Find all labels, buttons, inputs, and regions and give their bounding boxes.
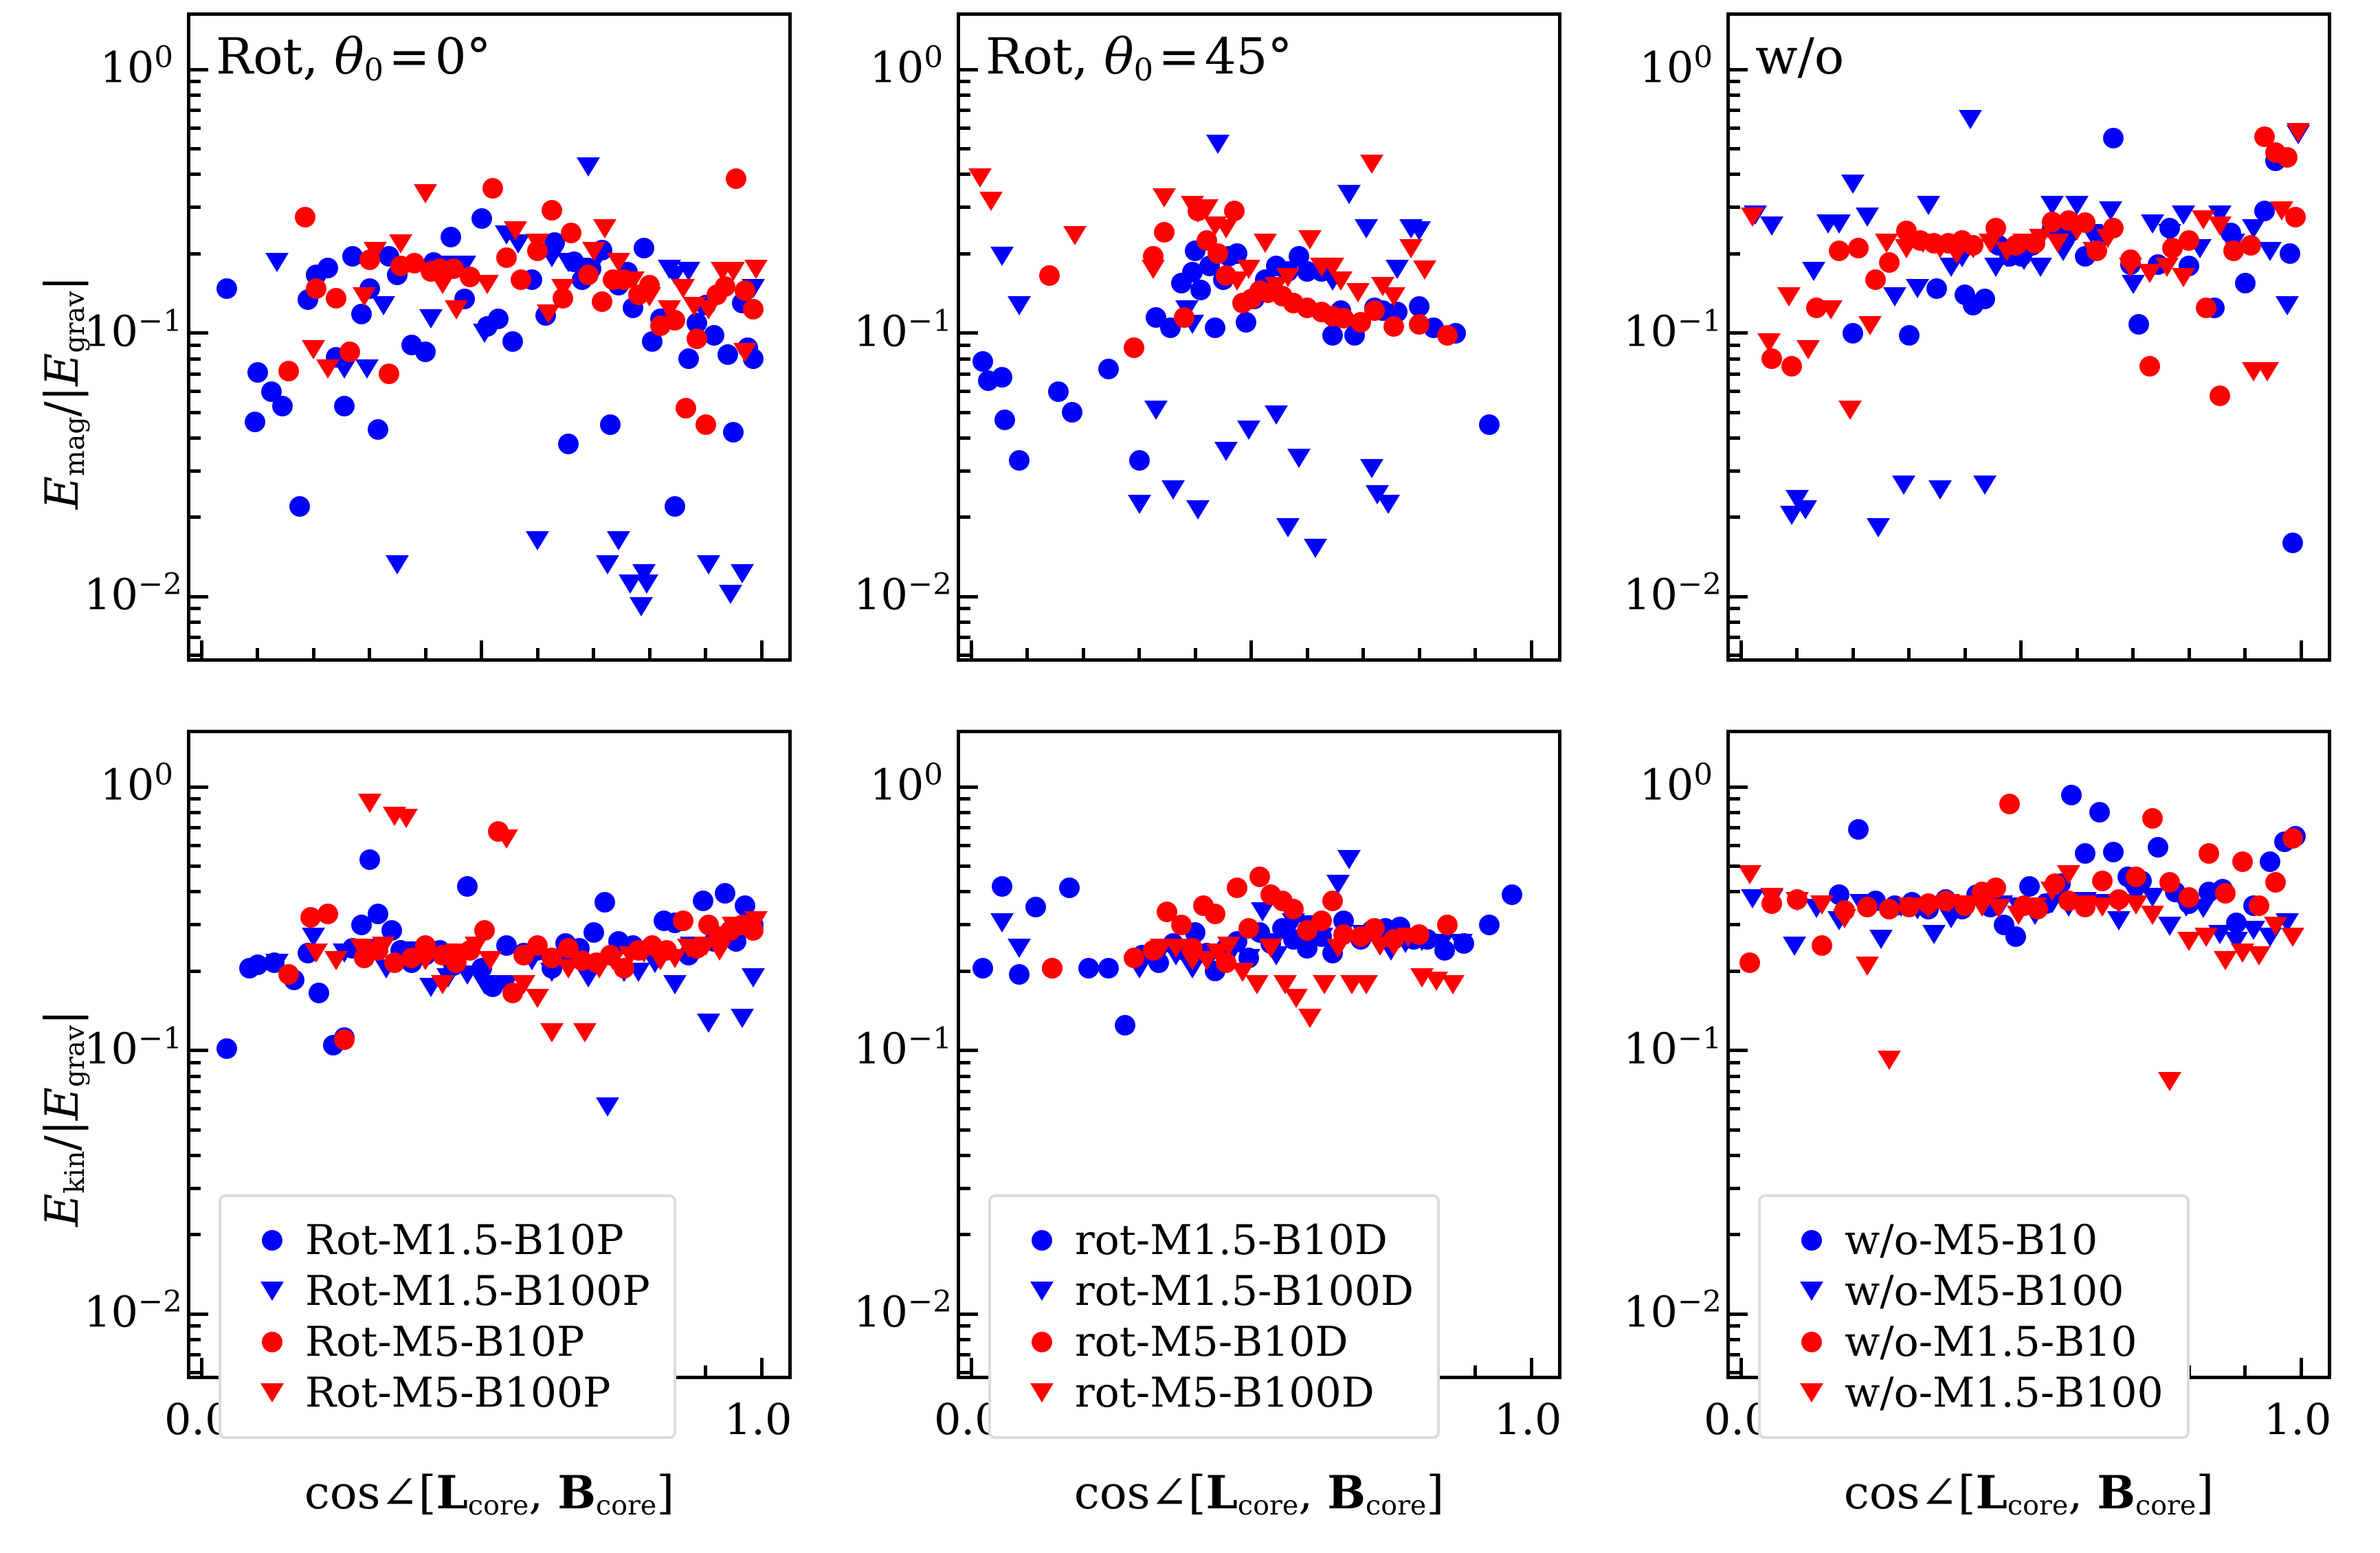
data-point-circle: [247, 362, 268, 383]
y-tick-minor: [190, 1324, 201, 1328]
legend-label: w/o-M1.5-B100: [1845, 1372, 2164, 1414]
y-tick-minor: [960, 411, 970, 414]
data-point-triangle: [742, 968, 765, 987]
y-tick-minor: [190, 811, 201, 814]
data-point-triangle: [1783, 937, 1806, 956]
data-point-triangle: [1254, 234, 1277, 253]
y-tick-major: [190, 1049, 208, 1052]
x-tick-minor: [1851, 648, 1855, 658]
y-tick-minor: [190, 436, 201, 440]
x-tick-minor: [1964, 648, 1967, 658]
data-point-triangle: [1313, 975, 1336, 994]
y-tick-minor: [190, 636, 201, 639]
y-tick-minor: [1730, 811, 1740, 814]
y-tick-minor: [190, 357, 201, 361]
data-point-triangle: [968, 168, 992, 188]
data-point-triangle: [355, 359, 379, 379]
y-tick-minor: [190, 172, 201, 176]
legend-item[interactable]: w/o-M1.5-B100: [1779, 1367, 2164, 1418]
y-tick-minor: [190, 252, 201, 256]
data-point-triangle: [990, 913, 1014, 932]
panel-wo-Emag: [1726, 12, 2331, 662]
data-point-triangle: [1237, 421, 1260, 440]
data-point-circle: [340, 342, 360, 362]
data-point-triangle: [722, 262, 745, 281]
data-point-triangle: [431, 975, 454, 994]
data-point-circle: [2232, 851, 2253, 872]
data-point-circle: [368, 904, 388, 924]
y-tick-label: 10−1: [1623, 307, 1713, 353]
data-point-circle: [715, 883, 735, 904]
data-point-circle: [1999, 794, 2020, 814]
data-point-triangle: [719, 585, 742, 604]
data-point-triangle: [1284, 989, 1308, 1008]
data-point-circle: [1009, 964, 1030, 985]
y-tick-minor: [1730, 970, 1740, 973]
data-point-circle: [1409, 314, 1430, 335]
legend-marker-wrap: [1009, 1282, 1075, 1301]
data-point-circle: [295, 207, 315, 227]
y-tick-minor: [190, 1090, 201, 1093]
y-tick-minor: [1730, 1090, 1740, 1093]
y-tick-minor: [1730, 1154, 1740, 1157]
y-tick-label: 10−1: [854, 307, 943, 353]
data-point-triangle: [2258, 242, 2282, 261]
y-tick-minor: [960, 607, 970, 610]
y-tick-minor: [1730, 923, 1740, 926]
y-axis-label-bottom: Ekin/|Egrav|: [40, 1009, 85, 1226]
data-point-circle: [1048, 381, 1069, 402]
x-tick-minor: [368, 648, 371, 658]
data-point-circle: [1154, 222, 1175, 243]
data-point-circle: [1848, 238, 1869, 258]
data-point-triangle: [1397, 928, 1420, 947]
data-point-circle: [318, 258, 338, 278]
data-point-circle: [496, 247, 517, 268]
data-point-circle: [1479, 414, 1500, 435]
data-point-triangle: [324, 951, 348, 970]
x-tick-minor: [1194, 648, 1197, 658]
legend-marker-wrap: [1009, 1383, 1075, 1403]
x-tick-major: [970, 1358, 973, 1376]
panel-title-rot-theta0: Rot, θ0 = 0°: [216, 32, 491, 81]
legend-item[interactable]: rot-M1.5-B10D: [1009, 1215, 1414, 1266]
data-point-circle: [2148, 837, 2168, 858]
data-point-triangle: [596, 555, 619, 574]
x-tick-minor: [592, 648, 595, 658]
x-axis-label-col0: cos∠[Lcore, Bcore]: [304, 1470, 674, 1516]
y-tick-minor: [190, 515, 201, 519]
y-tick-minor: [960, 147, 970, 150]
legend-item[interactable]: w/o-M1.5-B10: [1779, 1317, 2164, 1367]
data-point-circle: [1879, 899, 1900, 919]
data-point-triangle: [697, 1014, 720, 1033]
panel-title-wo: w/o: [1755, 32, 1844, 81]
data-point-circle: [678, 348, 699, 369]
data-point-circle: [992, 367, 1012, 388]
y-tick-major: [960, 1312, 978, 1316]
data-point-triangle: [635, 574, 658, 594]
x-tick-minor: [2243, 1365, 2247, 1376]
legend-label: rot-M5-B100D: [1075, 1372, 1375, 1414]
data-point-circle: [542, 200, 562, 221]
legend-item[interactable]: rot-M5-B10D: [1009, 1317, 1414, 1367]
data-point-triangle: [1449, 934, 1473, 953]
legend-item[interactable]: rot-M5-B100D: [1009, 1367, 1414, 1418]
data-point-circle: [1236, 312, 1256, 333]
x-tick-major: [970, 640, 973, 658]
data-point-circle: [1098, 958, 1119, 979]
data-point-triangle: [1251, 902, 1274, 921]
data-point-triangle: [504, 221, 527, 241]
data-point-triangle: [1063, 226, 1087, 245]
x-tick-major: [2300, 1358, 2303, 1376]
y-tick-minor: [190, 653, 201, 657]
data-point-circle: [2199, 843, 2219, 864]
y-tick-minor: [960, 636, 970, 639]
data-point-triangle: [2194, 928, 2218, 947]
data-point-circle: [1124, 948, 1144, 968]
y-tick-major: [1730, 331, 1748, 335]
y-tick-major: [190, 331, 208, 335]
data-point-triangle: [1161, 480, 1185, 500]
y-tick-minor: [1730, 172, 1740, 176]
y-tick-minor: [190, 1187, 201, 1190]
data-point-circle: [1115, 1015, 1135, 1036]
data-point-triangle: [1856, 208, 1879, 227]
data-point-circle: [1283, 899, 1304, 919]
data-point-circle: [726, 168, 746, 189]
data-point-triangle: [1959, 110, 1982, 129]
data-point-circle: [1129, 450, 1150, 471]
legend-label: Rot-M1.5-B100P: [305, 1271, 650, 1312]
data-point-triangle: [372, 937, 395, 956]
y-tick-minor: [1730, 1128, 1740, 1132]
data-point-circle: [2235, 273, 2256, 293]
legend-item[interactable]: Rot-M5-B10P: [239, 1317, 650, 1367]
y-tick-minor: [960, 80, 970, 83]
data-point-circle: [318, 904, 338, 924]
data-point-triangle: [537, 304, 560, 324]
y-tick-minor: [960, 1075, 970, 1078]
y-tick-minor: [190, 411, 201, 414]
data-point-circle: [558, 434, 579, 454]
data-point-triangle: [577, 157, 600, 177]
y-tick-minor: [960, 515, 970, 519]
legend-rot-theta45: rot-M1.5-B10Drot-M1.5-B100Drot-M5-B10Dro…: [988, 1194, 1440, 1439]
data-point-circle: [2128, 314, 2149, 335]
data-point-circle: [723, 422, 744, 443]
data-point-circle: [1437, 915, 1458, 935]
data-point-triangle: [1298, 230, 1322, 249]
data-point-circle: [1812, 935, 1832, 956]
data-point-circle: [216, 1038, 237, 1059]
data-point-circle: [482, 178, 503, 199]
y-tick-label: 10−2: [1623, 1288, 1713, 1334]
y-tick-minor: [960, 890, 970, 893]
data-point-triangle: [1777, 287, 1801, 306]
data-point-triangle: [2158, 1072, 2181, 1091]
data-point-triangle: [1304, 539, 1327, 558]
y-tick-minor: [960, 1338, 970, 1341]
y-tick-minor: [1730, 344, 1740, 347]
x-tick-minor: [2243, 648, 2247, 658]
y-tick-major: [190, 68, 208, 71]
y-tick-minor: [960, 621, 970, 624]
data-point-triangle: [1337, 850, 1361, 869]
plot-area-rot-theta45-Emag: [960, 16, 1558, 658]
data-point-triangle: [1128, 495, 1151, 514]
data-point-circle: [634, 238, 654, 258]
data-point-triangle: [540, 1023, 564, 1042]
data-point-circle: [245, 412, 265, 432]
y-tick-minor: [1730, 1187, 1740, 1190]
y-tick-minor: [960, 109, 970, 112]
y-tick-major: [190, 1312, 208, 1316]
data-point-triangle: [1214, 219, 1238, 238]
data-point-triangle: [1757, 333, 1781, 353]
data-point-triangle: [386, 555, 409, 574]
data-point-circle: [673, 910, 693, 931]
data-point-triangle: [1833, 909, 1856, 928]
y-tick-minor: [1730, 205, 1740, 209]
data-point-triangle: [495, 829, 518, 849]
data-point-circle: [334, 1029, 355, 1050]
data-point-circle: [1124, 337, 1144, 358]
legend-marker-wrap: [1009, 1332, 1075, 1352]
x-tick-minor: [2076, 648, 2079, 658]
data-point-circle: [743, 299, 764, 320]
y-tick-minor: [190, 126, 201, 130]
data-point-circle: [502, 331, 523, 352]
data-point-circle: [1208, 243, 1228, 264]
data-point-triangle: [1738, 865, 1761, 884]
data-point-circle: [2282, 828, 2303, 849]
legend-label: Rot-M1.5-B10P: [305, 1220, 624, 1261]
data-point-triangle: [1878, 1051, 1901, 1070]
data-point-circle: [2196, 298, 2216, 318]
y-tick-minor: [960, 1371, 970, 1374]
legend-triangle-icon: [1800, 1383, 1823, 1403]
data-point-triangle: [1802, 262, 1825, 281]
x-tick-minor: [1137, 648, 1141, 658]
y-tick-minor: [1730, 607, 1740, 610]
legend-triangle-icon: [1030, 1282, 1054, 1301]
legend-marker-wrap: [1779, 1230, 1845, 1251]
data-point-triangle: [414, 184, 437, 203]
legend-circle-icon: [1032, 1332, 1052, 1352]
panel-rot-theta0-Emag: [187, 12, 792, 662]
y-tick-label: 10−1: [84, 1025, 173, 1071]
y-tick-label: 100: [1623, 43, 1713, 89]
y-tick-minor: [1730, 93, 1740, 97]
data-point-triangle: [1883, 287, 1906, 306]
data-point-triangle: [1346, 283, 1370, 302]
legend-circle-icon: [1801, 1332, 1822, 1352]
data-point-triangle: [1973, 476, 1997, 495]
data-point-triangle: [478, 951, 502, 970]
data-point-triangle: [1760, 888, 1783, 907]
data-point-circle: [1322, 891, 1343, 911]
y-tick-minor: [1730, 864, 1740, 868]
y-tick-minor: [960, 436, 970, 440]
data-point-circle: [415, 342, 436, 362]
data-point-circle: [1502, 884, 1522, 905]
data-point-circle: [561, 223, 581, 243]
data-point-triangle: [1355, 219, 1378, 238]
data-point-triangle: [1298, 1009, 1322, 1028]
y-tick-minor: [960, 970, 970, 973]
panel-title-rot-theta45: Rot, θ0 = 45°: [986, 32, 1292, 81]
figure-root: 10010−110−210010−110−210010−110−210010−1…: [0, 0, 2380, 1553]
data-point-circle: [1025, 897, 1046, 917]
x-tick-label: 1.0: [1494, 1398, 1562, 1441]
y-tick-minor: [960, 1090, 970, 1093]
y-tick-minor: [960, 357, 970, 361]
data-point-triangle: [1276, 518, 1300, 537]
data-point-triangle: [316, 359, 340, 379]
data-point-circle: [1899, 325, 1920, 346]
data-point-triangle: [526, 531, 549, 550]
data-point-circle: [457, 876, 478, 897]
y-tick-label: 100: [854, 761, 943, 807]
x-tick-minor: [536, 648, 540, 658]
data-point-circle: [278, 361, 299, 381]
y-tick-minor: [190, 205, 201, 209]
data-point-triangle: [582, 242, 605, 261]
data-point-triangle: [2057, 865, 2080, 884]
data-point-triangle: [733, 343, 757, 362]
data-point-circle: [687, 328, 707, 349]
y-tick-major: [1730, 68, 1748, 71]
y-tick-minor: [1730, 653, 1740, 657]
data-point-triangle: [414, 951, 437, 970]
y-tick-major: [960, 785, 978, 789]
data-point-triangle: [1892, 476, 1915, 495]
x-tick-major: [760, 1358, 764, 1376]
y-tick-minor: [960, 1324, 970, 1328]
y-tick-minor: [960, 469, 970, 473]
data-point-triangle: [1399, 239, 1423, 258]
data-point-triangle: [1337, 185, 1361, 204]
y-tick-minor: [190, 80, 201, 83]
y-tick-minor: [960, 1107, 970, 1110]
data-point-triangle: [1827, 214, 1851, 234]
x-tick-minor: [1907, 648, 1911, 658]
y-tick-major: [960, 1049, 978, 1052]
data-point-circle: [600, 414, 621, 435]
data-point-circle: [1311, 910, 1332, 931]
legend-item[interactable]: Rot-M5-B100P: [239, 1367, 650, 1418]
y-tick-label: 10−1: [84, 307, 173, 353]
x-tick-major: [1249, 640, 1253, 658]
y-tick-label: 10−1: [854, 1025, 943, 1071]
y-tick-minor: [1730, 1353, 1740, 1356]
data-point-circle: [368, 419, 388, 440]
data-point-triangle: [1276, 268, 1300, 287]
legend-triangle-icon: [1030, 1383, 1054, 1403]
legend-label: w/o-M1.5-B10: [1845, 1321, 2137, 1363]
plot-area-rot-theta0-Emag: [190, 16, 788, 658]
data-point-circle: [2142, 808, 2163, 829]
x-tick-minor: [2131, 648, 2135, 658]
y-tick-label: 10−1: [1623, 1025, 1713, 1071]
x-tick-major: [1530, 640, 1533, 658]
y-tick-minor: [1730, 1338, 1740, 1341]
data-point-circle: [2210, 386, 2230, 406]
data-point-triangle: [1441, 975, 1465, 994]
data-point-circle: [1383, 316, 1404, 337]
y-tick-minor: [960, 864, 970, 868]
data-point-triangle: [1797, 340, 1820, 359]
legend-marker-wrap: [1009, 1230, 1075, 1251]
y-tick-minor: [1730, 469, 1740, 473]
data-point-circle: [2282, 533, 2303, 553]
y-tick-minor: [190, 1107, 201, 1110]
y-tick-minor: [960, 1187, 970, 1190]
legend-circle-icon: [1801, 1230, 1822, 1251]
data-point-triangle: [731, 1009, 754, 1028]
x-tick-major: [2300, 640, 2303, 658]
y-tick-label: 100: [854, 43, 943, 89]
data-point-triangle: [607, 253, 630, 272]
data-point-triangle: [573, 1023, 597, 1042]
x-axis-label-col1: cos∠[Lcore, Bcore]: [1074, 1470, 1444, 1516]
data-point-triangle: [1794, 500, 1817, 519]
data-point-triangle: [1858, 316, 1882, 335]
data-point-circle: [309, 983, 329, 1003]
legend-item[interactable]: w/o-M5-B100: [1779, 1266, 2164, 1317]
legend-item[interactable]: Rot-M1.5-B10P: [239, 1215, 650, 1266]
data-point-triangle: [302, 340, 325, 359]
data-point-triangle: [1841, 175, 1865, 194]
data-point-triangle: [1008, 296, 1031, 315]
y-tick-minor: [960, 93, 970, 97]
data-point-triangle: [1917, 196, 1940, 215]
data-point-circle: [1042, 958, 1063, 979]
data-point-circle: [379, 364, 399, 384]
legend-item[interactable]: rot-M1.5-B100D: [1009, 1266, 1414, 1317]
legend-triangle-icon: [1800, 1282, 1823, 1301]
x-tick-minor: [2188, 648, 2191, 658]
data-point-circle: [441, 227, 461, 247]
data-point-triangle: [476, 275, 499, 294]
legend-marker-wrap: [239, 1332, 305, 1352]
x-tick-minor: [704, 1365, 707, 1376]
data-point-circle: [1857, 897, 1878, 917]
y-tick-major: [190, 595, 208, 599]
data-point-triangle: [557, 959, 580, 979]
y-tick-minor: [190, 1075, 201, 1078]
legend-item[interactable]: Rot-M1.5-B100P: [239, 1266, 650, 1317]
data-point-triangle: [2029, 258, 2052, 277]
legend-marker-wrap: [1779, 1383, 1845, 1403]
data-point-triangle: [2141, 906, 2164, 925]
y-tick-label: 100: [1623, 761, 1713, 807]
y-tick-minor: [960, 1128, 970, 1132]
y-tick-minor: [1730, 252, 1740, 256]
x-tick-major: [1739, 640, 1743, 658]
y-tick-major: [1730, 595, 1748, 599]
data-point-circle: [1926, 278, 1947, 299]
y-tick-minor: [190, 390, 201, 393]
data-point-triangle: [1810, 895, 1834, 915]
y-tick-minor: [190, 1371, 201, 1374]
legend-item[interactable]: w/o-M5-B10: [1779, 1215, 2164, 1266]
y-tick-minor: [190, 1233, 201, 1236]
data-point-triangle: [1287, 449, 1311, 468]
data-point-circle: [216, 278, 237, 299]
